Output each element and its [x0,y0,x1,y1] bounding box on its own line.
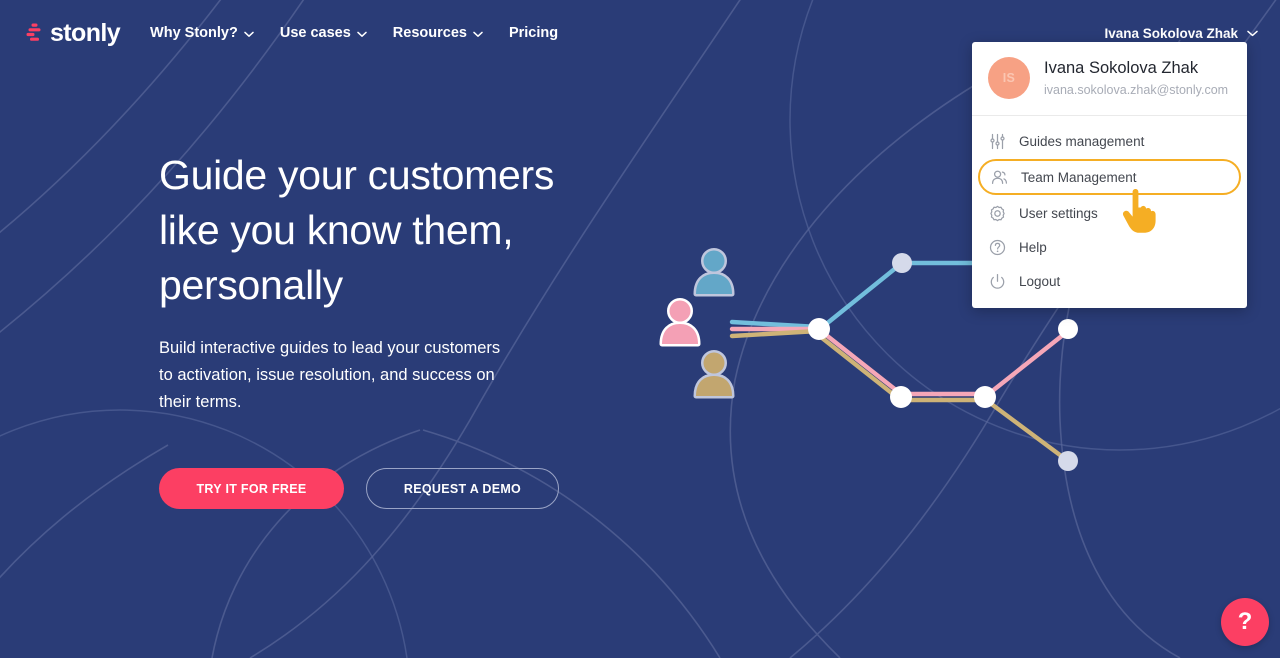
menu-item-team-management[interactable]: Team Management [978,159,1241,195]
avatar: IS [988,57,1030,99]
question-circle-icon [988,238,1006,256]
dropdown-menu-list: Guides management Team Management [972,116,1247,308]
account-name: Ivana Sokolova Zhak [1044,57,1228,79]
menu-item-label: Logout [1019,274,1060,289]
menu-item-label: User settings [1019,206,1098,221]
nav-label: Use cases [280,25,351,41]
page-title: Guide your customers like you know them,… [159,148,629,313]
menu-item-help[interactable]: Help [972,230,1247,264]
nav-item-why-stonly[interactable]: Why Stonly? [150,25,254,41]
hero-section: Guide your customers like you know them,… [159,148,629,509]
nav-item-pricing[interactable]: Pricing [509,25,558,41]
nav-item-use-cases[interactable]: Use cases [280,25,367,41]
stonly-logo[interactable]: stonly [26,21,120,46]
user-group-icon [990,168,1008,186]
stonly-stack-icon [26,23,43,43]
nav-item-resources[interactable]: Resources [393,25,483,41]
menu-item-guides-management[interactable]: Guides management [972,124,1247,158]
avatar-customer-blue [696,251,732,295]
sliders-icon [988,132,1006,150]
help-button[interactable]: ? [1221,598,1269,646]
nav-label: Pricing [509,25,558,41]
try-it-for-free-button[interactable]: TRY IT FOR FREE [159,468,344,509]
user-account-dropdown: IS Ivana Sokolova Zhak ivana.sokolova.zh… [972,42,1247,308]
avatar-customer-pink [662,301,698,345]
dropdown-profile-header: IS Ivana Sokolova Zhak ivana.sokolova.zh… [972,42,1247,116]
power-icon [988,272,1006,290]
logo-wordmark: stonly [50,21,120,46]
user-menu-trigger-label: Ivana Sokolova Zhak [1104,26,1238,41]
nav-label: Resources [393,25,467,41]
gear-icon [988,204,1006,222]
menu-item-logout[interactable]: Logout [972,264,1247,298]
menu-item-label: Team Management [1021,170,1137,185]
menu-item-label: Guides management [1019,134,1144,149]
hero-cta-group: TRY IT FOR FREE REQUEST A DEMO [159,468,629,509]
menu-item-user-settings[interactable]: User settings [972,196,1247,230]
menu-item-label: Help [1019,240,1047,255]
avatar-customer-tan [696,353,732,397]
hero-subtitle: Build interactive guides to lead your cu… [159,335,629,416]
user-menu-trigger[interactable]: Ivana Sokolova Zhak [1104,26,1258,41]
chevron-down-icon [473,31,483,38]
chevron-down-icon [357,31,367,38]
nav-label: Why Stonly? [150,25,238,41]
chevron-down-icon [1247,30,1258,37]
request-a-demo-button[interactable]: REQUEST A DEMO [366,468,559,509]
question-mark-icon: ? [1238,608,1253,636]
chevron-down-icon [244,31,254,38]
account-email: ivana.sokolova.zhak@stonly.com [1044,81,1228,99]
primary-nav: Why Stonly? Use cases Resources Pricing [150,25,558,41]
